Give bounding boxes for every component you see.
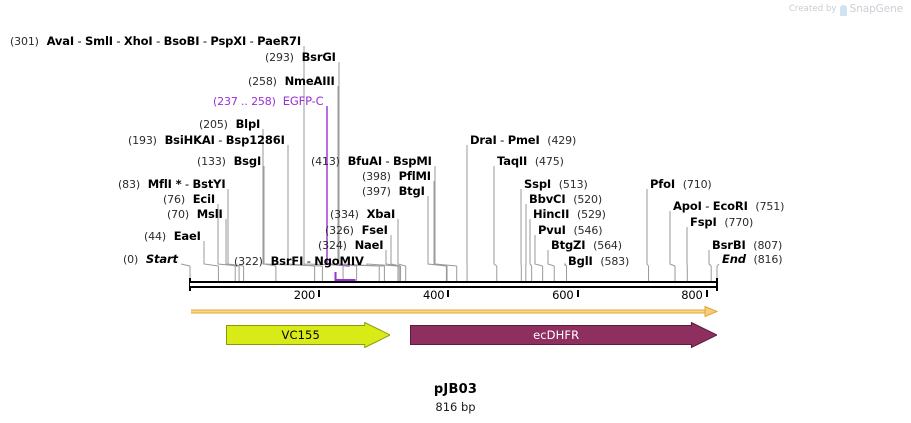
site-name: PvuI [538, 223, 566, 237]
site-name-group: DraI - PmeI [470, 133, 540, 147]
site-name: BstYI [193, 177, 226, 191]
site-name-group: TaqII [497, 154, 527, 168]
site-label-bsgi: (133) BsgI [197, 155, 261, 168]
site-name: TaqII [497, 154, 527, 168]
site-name: BsrGI [302, 50, 336, 64]
site-name-group: BbvCI [529, 192, 565, 206]
site-position: (546) [574, 224, 603, 237]
site-label-blpi: (205) BlpI [199, 118, 260, 131]
restriction-site-labels: (301) AvaI - SmlI - XhoI - BsoBI - PspXI… [0, 0, 911, 285]
page-title: pJB03 [0, 382, 911, 397]
site-name-group: XbaI [367, 207, 396, 221]
site-name: DraI [470, 133, 497, 147]
site-label-avai: (301) AvaI - SmlI - XhoI - BsoBI - PspXI… [10, 35, 301, 48]
site-name: Bsp1286I [226, 133, 285, 147]
site-label-mfli-: (83) MflI * - BstYI [118, 178, 225, 191]
site-name: MslI [197, 207, 223, 221]
site-name-group: BtgI [399, 184, 425, 198]
ruler-tick-label: 200 [294, 288, 317, 302]
site-name-group: BlpI [236, 117, 261, 131]
site-label-bgli: BglI (583) [568, 255, 629, 268]
ruler-tick-label: 800 [681, 288, 704, 302]
site-label-btgzi: BtgZI (564) [551, 239, 622, 252]
site-name-group: ApoI - EcoRI [673, 199, 748, 213]
feature-arrow-ecdhfr[interactable]: ecDHFR [410, 322, 717, 348]
site-label-eaei: (44) EaeI [144, 230, 201, 243]
site-position: (513) [559, 178, 588, 191]
site-label-bsrbi: BsrBI (807) [712, 239, 782, 252]
feature-label: ecDHFR [533, 328, 579, 342]
site-name: PspXI [210, 34, 246, 48]
site-position: (322) [234, 255, 263, 268]
site-name-group: NaeI [355, 238, 384, 252]
site-name: Start [146, 252, 178, 266]
site-name-group: HincII [533, 207, 569, 221]
site-label-btgi: (397) BtgI [362, 185, 425, 198]
feature-arrow-vc155[interactable]: VC155 [226, 322, 391, 348]
site-position: (205) [199, 118, 228, 131]
site-label-start: (0) Start [123, 253, 178, 266]
site-label-end: End (816) [722, 253, 782, 266]
site-position: (529) [577, 208, 606, 221]
site-name: EciI [193, 192, 215, 206]
ruler-tick-label: 400 [423, 288, 446, 302]
site-label-naei: (324) NaeI [318, 239, 383, 252]
site-position: (83) [118, 178, 140, 191]
site-name: MflI * [148, 177, 182, 191]
site-label-bsrgi: (293) BsrGI [265, 51, 336, 64]
site-position: (237 .. 258) [213, 95, 276, 108]
site-name: BbvCI [529, 192, 565, 206]
site-label-taqii: TaqII (475) [497, 155, 564, 168]
site-name-separator: - [74, 34, 85, 48]
site-label-apoi: ApoI - EcoRI (751) [673, 200, 784, 213]
site-position: (770) [724, 216, 753, 229]
site-name-separator: - [153, 34, 164, 48]
site-name: BspMI [393, 154, 432, 168]
site-name-separator: - [702, 199, 713, 213]
plasmid-size: 816 bp [0, 400, 911, 414]
site-name-group: BtgZI [551, 238, 585, 252]
site-name: XbaI [367, 207, 396, 221]
site-name: PflMI [399, 169, 431, 183]
site-label-egfp-c: (237 .. 258) EGFP-C [213, 95, 324, 108]
site-name: BsrBI [712, 238, 746, 252]
site-position: (326) [325, 224, 354, 237]
site-position: (710) [683, 178, 712, 191]
site-name: End [722, 252, 746, 266]
site-label-pflmi: (398) PflMI [362, 170, 431, 183]
site-name-group: EGFP-C [283, 94, 324, 108]
site-name-group: PvuI [538, 223, 566, 237]
site-position: (76) [163, 193, 185, 206]
site-name: HincII [533, 207, 569, 221]
site-name: BsrFI [271, 254, 304, 268]
site-name-separator: - [199, 34, 210, 48]
site-label-drai: DraI - PmeI (429) [470, 134, 576, 147]
site-name: NmeAIII [285, 74, 335, 88]
site-position: (564) [593, 239, 622, 252]
site-label-fspi: FspI (770) [690, 216, 753, 229]
site-position: (816) [754, 253, 783, 266]
site-position: (429) [547, 134, 576, 147]
ruler-tick-label: 600 [552, 288, 575, 302]
site-name-group: BsrGI [302, 50, 336, 64]
site-label-nmeaiii: (258) NmeAIII [248, 75, 335, 88]
site-label-bbvci: BbvCI (520) [529, 193, 602, 206]
site-position: (70) [167, 208, 189, 221]
site-name: NaeI [355, 238, 384, 252]
site-name-group: SspI [524, 177, 551, 191]
site-name-group: EciI [193, 192, 215, 206]
site-position: (193) [128, 134, 157, 147]
site-name: EcoRI [713, 199, 748, 213]
site-name: BtgZI [551, 238, 585, 252]
site-name: BtgI [399, 184, 425, 198]
site-name-separator: - [497, 133, 508, 147]
ruler-tick [577, 290, 579, 297]
site-name: EGFP-C [283, 94, 324, 108]
site-label-msli: (70) MslI [167, 208, 223, 221]
site-name-group: EaeI [174, 229, 201, 243]
site-name-group: End [722, 252, 746, 266]
site-position: (293) [265, 51, 294, 64]
site-name-separator: - [246, 34, 257, 48]
site-name-group: BsrBI [712, 238, 746, 252]
site-name: BsgI [234, 154, 262, 168]
site-label-hincii: HincII (529) [533, 208, 606, 221]
site-name: FseI [362, 223, 388, 237]
site-name-separator: - [215, 133, 226, 147]
site-name-group: BsrFI - NgoMIV [271, 254, 364, 268]
site-name: BfuAI [348, 154, 382, 168]
site-name-group: Start [146, 252, 178, 266]
site-name-group: AvaI - SmlI - XhoI - BsoBI - PspXI - Pae… [47, 34, 301, 48]
site-name-group: FseI [362, 223, 388, 237]
site-label-bfuai: (413) BfuAI - BspMI [311, 155, 432, 168]
ruler-tick [447, 290, 449, 297]
site-name: SmlI [85, 34, 113, 48]
site-name-separator: - [113, 34, 124, 48]
ruler-tick [318, 290, 320, 297]
site-name-group: BsgI [234, 154, 262, 168]
site-position: (44) [144, 230, 166, 243]
site-name-group: PflMI [399, 169, 431, 183]
site-name: EaeI [174, 229, 201, 243]
site-position: (475) [535, 155, 564, 168]
site-name-group: BsiHKAI - Bsp1286I [165, 133, 285, 147]
feature-label: VC155 [282, 328, 320, 342]
site-name-separator: - [382, 154, 393, 168]
site-name-group: FspI [690, 215, 717, 229]
site-position: (133) [197, 155, 226, 168]
site-label-xbai: (334) XbaI [330, 208, 395, 221]
site-label-fsei: (326) FseI [325, 224, 388, 237]
site-label-pfoi: PfoI (710) [650, 178, 712, 191]
site-name: ApoI [673, 199, 702, 213]
ruler-tick [706, 290, 708, 297]
site-name: BsoBI [164, 34, 200, 48]
site-name: XhoI [124, 34, 153, 48]
site-name-separator: - [182, 177, 193, 191]
site-position: (258) [248, 75, 277, 88]
site-name: PaeR7I [257, 34, 301, 48]
site-position: (398) [362, 170, 391, 183]
site-name: FspI [690, 215, 717, 229]
site-name-group: PfoI [650, 177, 675, 191]
site-position: (807) [753, 239, 782, 252]
site-position: (413) [311, 155, 340, 168]
site-label-bsihkai: (193) BsiHKAI - Bsp1286I [128, 134, 285, 147]
site-name: PfoI [650, 177, 675, 191]
site-name: AvaI [47, 34, 74, 48]
site-name-separator: - [303, 254, 314, 268]
site-position: (583) [600, 255, 629, 268]
site-label-sspi: SspI (513) [524, 178, 588, 191]
site-name: BlpI [236, 117, 261, 131]
site-name-group: MflI * - BstYI [148, 177, 226, 191]
site-position: (334) [330, 208, 359, 221]
site-position: (324) [318, 239, 347, 252]
site-position: (0) [123, 253, 138, 266]
site-position: (520) [573, 193, 602, 206]
site-name-group: MslI [197, 207, 223, 221]
site-name-group: BfuAI - BspMI [348, 154, 432, 168]
site-position: (751) [755, 200, 784, 213]
site-name: BglI [568, 254, 593, 268]
site-label-ecii: (76) EciI [163, 193, 215, 206]
site-name: NgoMIV [314, 254, 363, 268]
orf-arrow [190, 306, 718, 317]
site-name-group: BglI [568, 254, 593, 268]
site-position: (301) [10, 35, 39, 48]
site-label-bsrfi: (322) BsrFI - NgoMIV [234, 255, 364, 268]
site-label-pvui: PvuI (546) [538, 224, 602, 237]
site-name: PmeI [508, 133, 540, 147]
site-position: (397) [362, 185, 391, 198]
site-name-group: NmeAIII [285, 74, 335, 88]
site-name: SspI [524, 177, 551, 191]
site-name: BsiHKAI [165, 133, 215, 147]
